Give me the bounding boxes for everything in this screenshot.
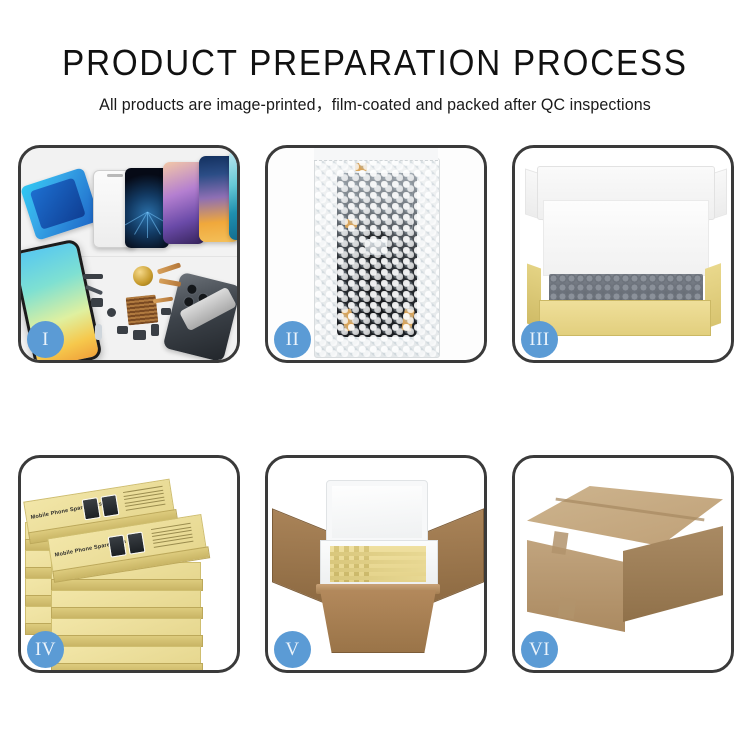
lcd-ribbon-cable [363, 231, 389, 317]
process-step-6: VI [512, 455, 734, 673]
process-step-4: Mobile Phone Spare Parts Mobile [18, 455, 240, 673]
small-component [151, 324, 159, 336]
product-preparation-infographic: PRODUCT PREPARATION PROCESS All products… [0, 0, 750, 750]
box-side-face [51, 663, 203, 670]
stacked-box [51, 618, 201, 638]
process-step-5: V [265, 455, 487, 673]
box-front-panel [539, 300, 711, 336]
packed-boxes-inside [330, 546, 426, 582]
bag-seal-strip [314, 148, 438, 161]
small-component [91, 298, 103, 307]
lcd-assembly [337, 173, 417, 337]
small-component [95, 324, 102, 340]
speaker-coil [133, 266, 153, 286]
packed-box-row [330, 576, 426, 580]
bubble-wrap-bag [314, 158, 440, 358]
camera-lens [185, 283, 198, 296]
step-badge-5: V [274, 631, 311, 668]
foam-liner [543, 200, 709, 276]
carton-body [320, 590, 436, 653]
screen-protector-inner [30, 178, 86, 230]
packed-box-row [330, 552, 426, 556]
glass-notch [107, 174, 123, 177]
lcd-connector [365, 239, 387, 255]
small-component [117, 326, 128, 334]
step-badge-2: II [274, 321, 311, 358]
phone-display-teal [229, 150, 237, 240]
tape-piece [345, 219, 357, 228]
box-window-graphic [126, 531, 145, 554]
small-component [83, 274, 103, 279]
flex-cable [159, 278, 182, 287]
stacked-box [51, 590, 201, 610]
process-step-2: II [265, 145, 487, 363]
tape-piece [355, 163, 367, 171]
carton-left-face [527, 540, 625, 632]
box-window-graphic [100, 494, 119, 517]
process-step-grid: I II [0, 0, 750, 750]
foam-box-lid [326, 480, 428, 544]
small-component [161, 308, 171, 315]
process-step-3: III [512, 145, 734, 363]
screen-protector-blue [21, 167, 100, 241]
packed-box-row [330, 568, 426, 572]
small-component [133, 330, 146, 340]
wallpaper-ray [147, 212, 148, 238]
tape-piece [341, 308, 355, 331]
step-badge-1: I [27, 321, 64, 358]
step-badge-4: IV [27, 631, 64, 668]
packed-box-row [330, 560, 426, 564]
step-badge-6: VI [521, 631, 558, 668]
lcd-frame [341, 177, 413, 231]
flex-cable [157, 262, 181, 274]
carton-tape-lower [558, 597, 577, 619]
tape-piece [401, 308, 415, 331]
box-window-graphic [82, 497, 101, 520]
stacked-box [51, 646, 201, 666]
step-badge-3: III [521, 321, 558, 358]
box-window-graphic [108, 534, 127, 557]
small-component [107, 308, 116, 317]
process-step-1: I [18, 145, 240, 363]
